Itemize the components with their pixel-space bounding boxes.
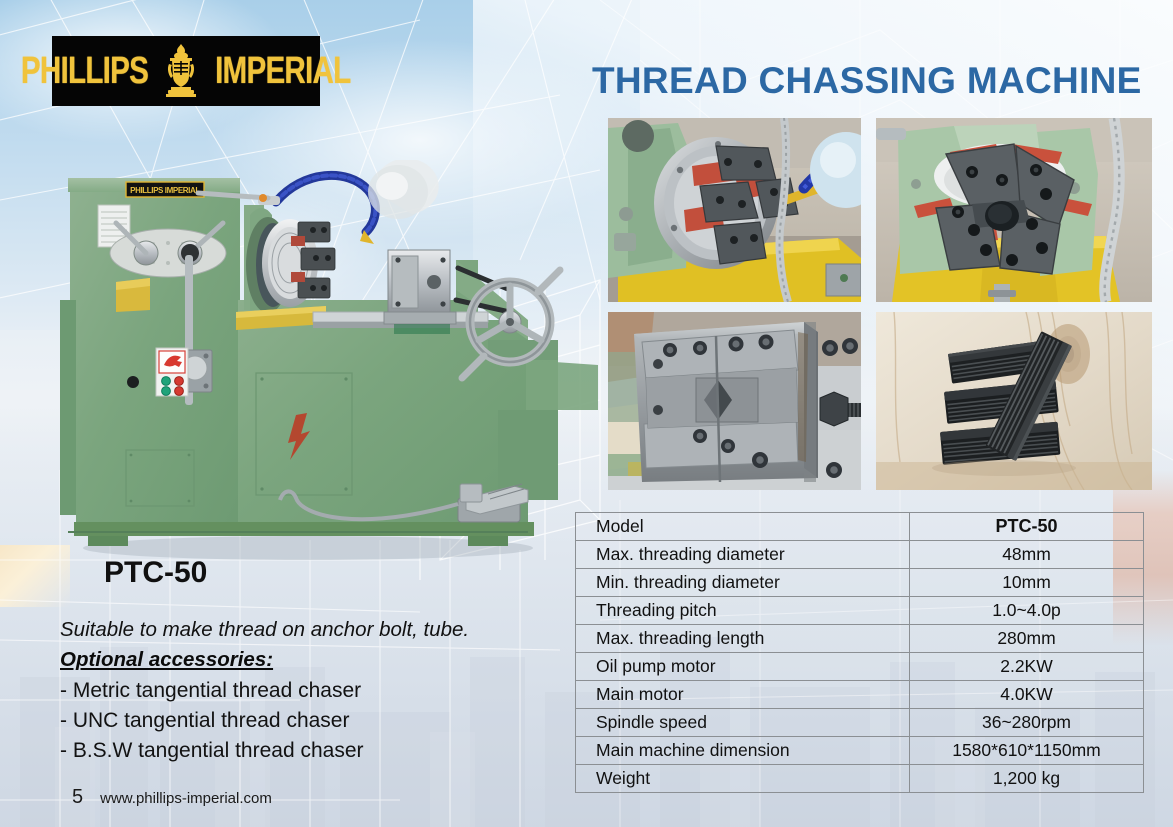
svg-text:PHILLIPS IMPERIAL: PHILLIPS IMPERIAL (130, 186, 200, 195)
table-row: Main motor 4.0KW (576, 681, 1144, 709)
thread-chasers-photo (876, 312, 1152, 490)
page-title: THREAD CHASSING MACHINE (592, 60, 1142, 102)
product-lead-text: Suitable to make thread on anchor bolt, … (60, 618, 469, 642)
main-product-photo: PHILLIPS IMPERIAL (58, 160, 598, 580)
table-row: Max. threading length 280mm (576, 625, 1144, 653)
spec-value: 2.2KW (910, 653, 1144, 681)
spec-value: 280mm (910, 625, 1144, 653)
optional-accessories-heading: Optional accessories: (60, 648, 273, 672)
spec-value: 1580*610*1150mm (910, 737, 1144, 765)
brand-logo: PHILLIPS (52, 36, 320, 106)
table-row: Threading pitch 1.0~4.0p (576, 597, 1144, 625)
list-item: - B.S.W tangential thread chaser (60, 736, 364, 766)
spec-value: 4.0KW (910, 681, 1144, 709)
accessories-list: - Metric tangential thread chaser - UNC … (60, 676, 364, 766)
page-number: 5 (72, 786, 83, 809)
specification-table: Model PTC-50 Max. threading diameter 48m… (575, 512, 1144, 793)
table-row: Weight 1,200 kg (576, 765, 1144, 793)
list-item: - UNC tangential thread chaser (60, 706, 364, 736)
spec-value: 48mm (910, 541, 1144, 569)
table-row: Spindle speed 36~280rpm (576, 709, 1144, 737)
spec-label: Weight (576, 765, 910, 793)
spec-value: 1,200 kg (910, 765, 1144, 793)
website-url[interactable]: www.phillips-imperial.com (100, 790, 272, 807)
spec-label: Oil pump motor (576, 653, 910, 681)
spec-label: Main motor (576, 681, 910, 709)
spec-value: 10mm (910, 569, 1144, 597)
logo-word-phillips: PHILLIPS (21, 52, 148, 90)
spec-label: Max. threading length (576, 625, 910, 653)
spec-value: 36~280rpm (910, 709, 1144, 737)
table-row: Max. threading diameter 48mm (576, 541, 1144, 569)
spec-value: 1.0~4.0p (910, 597, 1144, 625)
table-row: Min. threading diameter 10mm (576, 569, 1144, 597)
spec-label: Threading pitch (576, 597, 910, 625)
table-row: Model PTC-50 (576, 513, 1144, 541)
product-model-caption: PTC-50 (104, 556, 207, 590)
catalog-page: PHILLIPS (0, 0, 1173, 827)
spec-value: PTC-50 (910, 513, 1144, 541)
spec-label: Min. threading diameter (576, 569, 910, 597)
page-footer: 5 www.phillips-imperial.com (72, 786, 272, 809)
table-row: Main machine dimension 1580*610*1150mm (576, 737, 1144, 765)
spec-label: Main machine dimension (576, 737, 910, 765)
spec-label: Model (576, 513, 910, 541)
coat-of-arms-crest-icon (164, 42, 198, 100)
spec-label: Spindle speed (576, 709, 910, 737)
logo-word-imperial: IMPERIAL (215, 52, 350, 90)
table-row: Oil pump motor 2.2KW (576, 653, 1144, 681)
die-head-front-photo (876, 118, 1152, 302)
list-item: - Metric tangential thread chaser (60, 676, 364, 706)
die-head-angled-photo (608, 118, 861, 302)
vise-clamp-photo (608, 312, 861, 490)
spec-label: Max. threading diameter (576, 541, 910, 569)
